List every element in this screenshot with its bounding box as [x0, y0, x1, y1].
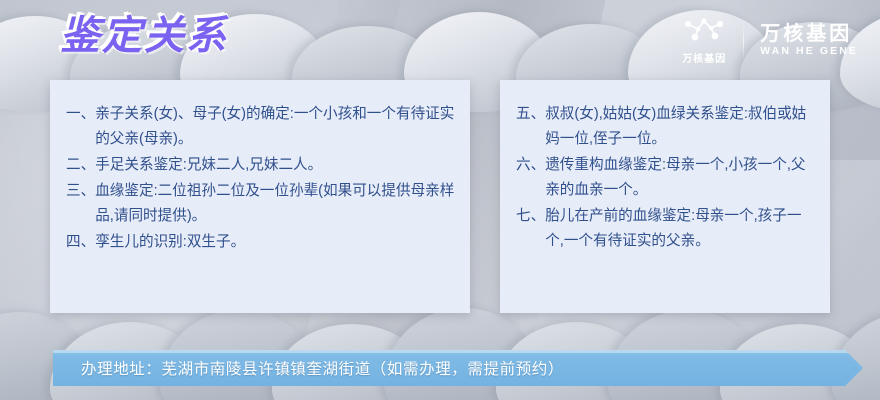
list-item-number: 二、: [66, 153, 95, 178]
brand-name-cn: 万核基因: [760, 24, 852, 44]
info-panel-right: 五、叔叔(女),姑姑(女)血绿关系鉴定:叔伯或姑妈一位,侄子一位。六、遗传重构血…: [500, 80, 830, 313]
list-item-number: 一、: [66, 102, 95, 152]
address-banner: 办理地址：芜湖市南陵县许镇镇奎湖街道（如需办理，需提前预约）: [53, 350, 863, 386]
list-item-number: 三、: [66, 179, 95, 229]
logo-divider: [743, 23, 744, 59]
brand-name-en: WAN HE GENE: [760, 46, 858, 57]
list-item: 七、胎儿在产前的血缘鉴定:母亲一个,孩子一个,一个有待证实的父亲。: [516, 204, 816, 254]
list-item-text: 叔叔(女),姑姑(女)血绿关系鉴定:叔伯或姑妈一位,侄子一位。: [545, 102, 816, 152]
list-item-number: 七、: [516, 204, 545, 254]
list-item-text: 亲子关系(女)、母子(女)的确定:一个小孩和一个有待证实的父亲(母亲)。: [95, 102, 456, 152]
list-item: 三、血缘鉴定:二位祖孙二位及一位孙辈(如果可以提供母亲样品,请同时提供)。: [66, 179, 456, 229]
logo-mark-label: 万核基因: [682, 50, 726, 65]
logo-wordmark: 万核基因 WAN HE GENE: [760, 24, 858, 57]
list-item: 五、叔叔(女),姑姑(女)血绿关系鉴定:叔伯或姑妈一位,侄子一位。: [516, 102, 816, 152]
relationship-list-right: 五、叔叔(女),姑姑(女)血绿关系鉴定:叔伯或姑妈一位,侄子一位。六、遗传重构血…: [516, 102, 816, 254]
page-title: 鉴定关系: [60, 16, 228, 56]
molecule-network-icon: [681, 16, 727, 47]
list-item: 二、手足关系鉴定:兄妹二人,兄妹二人。: [66, 153, 456, 178]
list-item-text: 孪生儿的识别:双生子。: [95, 230, 456, 255]
list-item-text: 血缘鉴定:二位祖孙二位及一位孙辈(如果可以提供母亲样品,请同时提供)。: [95, 179, 456, 229]
list-item-text: 胎儿在产前的血缘鉴定:母亲一个,孩子一个,一个有待证实的父亲。: [545, 204, 816, 254]
list-item: 四、孪生儿的识别:双生子。: [66, 230, 456, 255]
list-item-text: 遗传重构血缘鉴定:母亲一个,小孩一个,父亲的血亲一个。: [545, 153, 816, 203]
list-item-number: 四、: [66, 230, 95, 255]
brand-logo: 万核基因 万核基因 WAN HE GENE: [681, 16, 858, 65]
list-item-text: 手足关系鉴定:兄妹二人,兄妹二人。: [95, 153, 456, 178]
relationship-list-left: 一、亲子关系(女)、母子(女)的确定:一个小孩和一个有待证实的父亲(母亲)。二、…: [66, 102, 456, 255]
logo-mark: 万核基因: [681, 16, 727, 65]
list-item-number: 六、: [516, 153, 545, 203]
info-panel-left: 一、亲子关系(女)、母子(女)的确定:一个小孩和一个有待证实的父亲(母亲)。二、…: [50, 80, 470, 313]
poster-canvas: 鉴定关系: [0, 0, 880, 400]
list-item-number: 五、: [516, 102, 545, 152]
list-item: 六、遗传重构血缘鉴定:母亲一个,小孩一个,父亲的血亲一个。: [516, 153, 816, 203]
list-item: 一、亲子关系(女)、母子(女)的确定:一个小孩和一个有待证实的父亲(母亲)。: [66, 102, 456, 152]
address-banner-text: 办理地址：芜湖市南陵县许镇镇奎湖街道（如需办理，需提前预约）: [81, 357, 564, 379]
